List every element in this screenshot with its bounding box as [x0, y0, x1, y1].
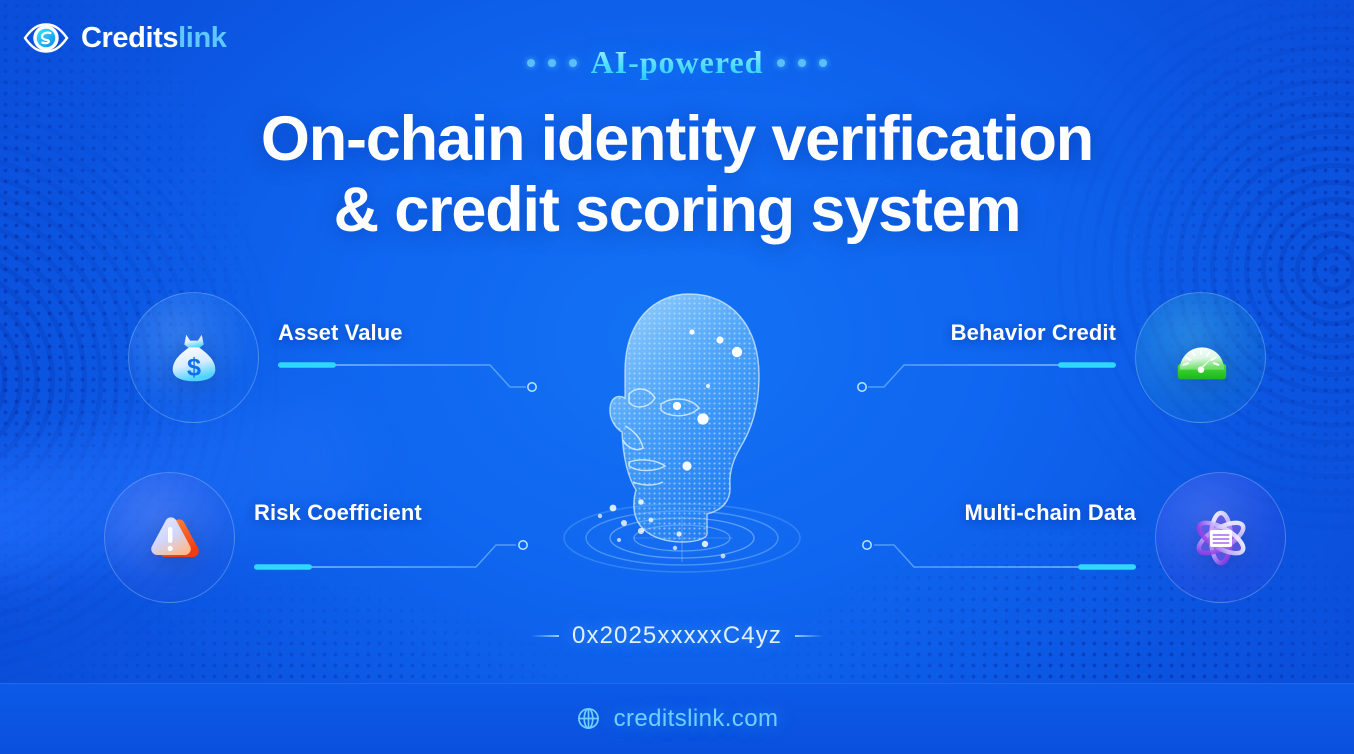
feature-connector-line [278, 360, 542, 378]
feature-connector-line [852, 360, 1116, 378]
wallet-address-row: 0x2025xxxxxC4yz [0, 622, 1354, 650]
atom-data-icon [1189, 506, 1253, 570]
eyebrow-dots-right [777, 59, 827, 67]
wallet-dash-left [531, 635, 559, 637]
feature-behavior-credit[interactable]: Behavior Credit [852, 292, 1266, 423]
feature-connector-line [852, 540, 1136, 558]
wireframe-human-head-scan-icon [537, 276, 827, 586]
feature-multi-chain-data[interactable]: Multi-chain Data [852, 472, 1286, 603]
feature-icon-orb [1135, 292, 1266, 423]
feature-icon-orb [1155, 472, 1286, 603]
feature-icon-orb [104, 472, 235, 603]
feature-label: Risk Coefficient [254, 500, 538, 526]
feature-body: Behavior Credit [852, 292, 1116, 378]
feature-label: Asset Value [278, 320, 542, 346]
feature-body: Multi-chain Data [852, 472, 1136, 558]
feature-connector-line [254, 540, 538, 558]
warning-triangle-icon [138, 506, 202, 570]
page-title-line-1: On-chain identity verification [0, 104, 1354, 175]
feature-label: Behavior Credit [852, 320, 1116, 346]
feature-body: Asset Value [278, 292, 542, 378]
feature-body: Risk Coefficient [254, 472, 538, 558]
page-title-line-2: & credit scoring system [0, 175, 1354, 246]
background-swirl-right [974, 0, 1354, 540]
speedometer-gauge-icon [1168, 327, 1234, 389]
feature-icon-orb: $ [128, 292, 259, 423]
globe-icon [576, 706, 601, 731]
eyebrow-dots-left [527, 59, 577, 67]
money-bag-icon: $ [163, 327, 225, 389]
wallet-address[interactable]: 0x2025xxxxxC4yz [572, 622, 782, 650]
poster-canvas: Creditslink AI-powered On-chain identity… [0, 0, 1354, 754]
eyebrow-banner: AI-powered [0, 44, 1354, 81]
footer-bar: creditslink.com [0, 683, 1354, 754]
feature-asset-value[interactable]: $ Asset Value [128, 292, 542, 423]
footer-website[interactable]: creditslink.com [614, 705, 779, 733]
hero-visual [537, 276, 827, 586]
feature-label: Multi-chain Data [852, 500, 1136, 526]
svg-text:$: $ [187, 353, 201, 381]
eyebrow-label: AI-powered [591, 44, 764, 81]
wallet-dash-right [795, 635, 823, 637]
feature-risk-coefficient[interactable]: Risk Coefficient [104, 472, 538, 603]
page-title: On-chain identity verification & credit … [0, 104, 1354, 245]
